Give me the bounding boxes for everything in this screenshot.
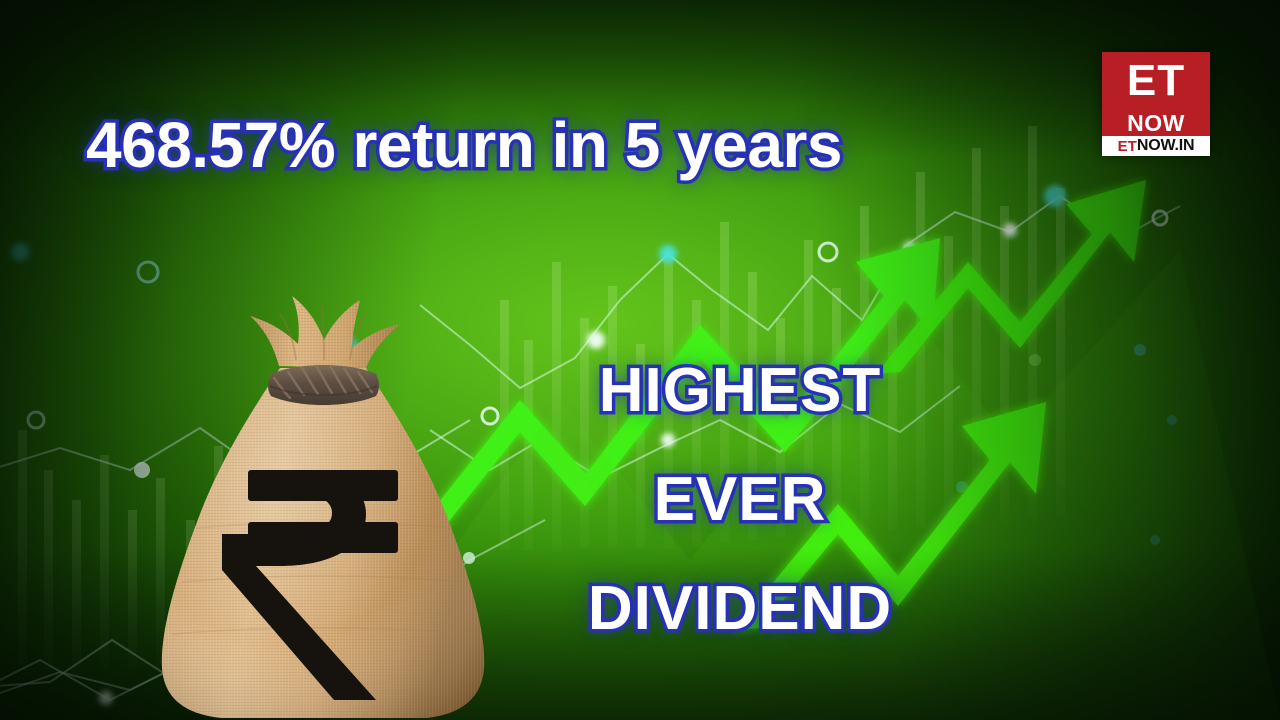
center-line-ever: EVER — [430, 467, 1050, 534]
logo-domain-rest: NOW.IN — [1137, 138, 1194, 154]
rope-tie — [268, 365, 379, 405]
logo-now-block: NOW — [1102, 110, 1210, 136]
et-now-logo[interactable]: ET NOW ET NOW.IN — [1102, 52, 1210, 156]
news-graphic-card: 468.57% return in 5 years HIGHEST EVER D… — [0, 0, 1280, 720]
logo-et-text: ET — [1127, 59, 1185, 103]
center-message: HIGHEST EVER DIVIDEND — [430, 358, 1050, 643]
center-line-highest: HIGHEST — [430, 358, 1050, 425]
logo-domain-strip: ET NOW.IN — [1102, 136, 1210, 156]
center-line-dividend: DIVIDEND — [430, 576, 1050, 643]
headline-return: 468.57% return in 5 years — [86, 108, 842, 182]
logo-et-block: ET — [1102, 52, 1210, 110]
logo-domain-prefix: ET — [1118, 139, 1137, 154]
logo-now-text: NOW — [1127, 112, 1185, 135]
